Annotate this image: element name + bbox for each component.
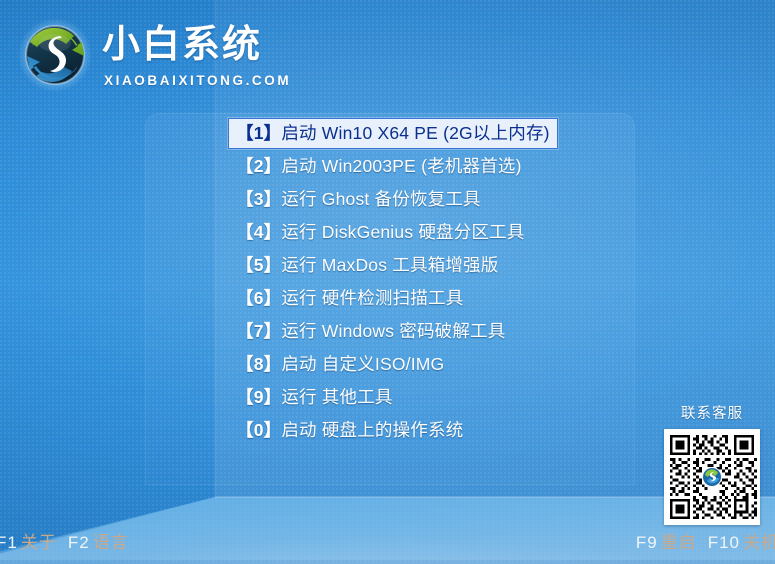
menu-item-9-key: 【9】 — [236, 387, 281, 407]
menu-item-6-key: 【6】 — [236, 288, 281, 308]
menu-item-8[interactable]: 【8】启动 自定义ISO/IMG — [228, 349, 452, 380]
hotkey-f9-key[interactable]: F9 — [636, 533, 658, 552]
boot-menu-list[interactable]: 【1】启动 Win10 X64 PE (2G以上内存) 【2】启动 Win200… — [228, 118, 628, 448]
brand-name-cn: 小白系统 — [102, 26, 262, 64]
menu-row: 【8】启动 自定义ISO/IMG — [228, 349, 628, 382]
menu-row: 【5】运行 MaxDos 工具箱增强版 — [228, 250, 628, 283]
menu-item-2-key: 【2】 — [236, 156, 281, 176]
menu-row: 【2】启动 Win2003PE (老机器首选) — [228, 151, 628, 184]
boot-menu-screen: 小白系统 XIAOBAIXITONG.COM 【1】启动 Win10 X64 P… — [0, 0, 775, 564]
menu-item-5-key: 【5】 — [236, 255, 281, 275]
menu-item-4-label: 运行 DiskGenius 硬盘分区工具 — [281, 222, 524, 242]
menu-item-0-label: 启动 硬盘上的操作系统 — [281, 420, 463, 440]
menu-item-9[interactable]: 【9】运行 其他工具 — [228, 382, 401, 413]
menu-item-2-label: 启动 Win2003PE (老机器首选) — [281, 156, 521, 176]
hotkey-f1-key[interactable]: F1 — [0, 533, 18, 552]
menu-item-3[interactable]: 【3】运行 Ghost 备份恢复工具 — [228, 184, 489, 215]
hotkey-hints-left: F1关于F2语言 — [0, 532, 129, 554]
hotkey-f1-label[interactable]: 关于 — [21, 533, 57, 552]
menu-item-7-key: 【7】 — [236, 321, 281, 341]
menu-item-5-label: 运行 MaxDos 工具箱增强版 — [281, 255, 498, 275]
menu-item-1[interactable]: 【1】启动 Win10 X64 PE (2G以上内存) — [228, 118, 558, 149]
menu-row: 【6】运行 硬件检测扫描工具 — [228, 283, 628, 316]
menu-item-7-label: 运行 Windows 密码破解工具 — [281, 321, 505, 341]
brand-logo: 小白系统 XIAOBAIXITONG.COM — [14, 8, 264, 100]
menu-item-3-label: 运行 Ghost 备份恢复工具 — [281, 189, 480, 209]
hotkey-f10-key[interactable]: F10 — [708, 533, 740, 552]
menu-item-0[interactable]: 【0】启动 硬盘上的操作系统 — [228, 415, 471, 446]
menu-item-3-key: 【3】 — [236, 189, 281, 209]
hotkey-hints-right: F9重启F10关机 — [636, 532, 775, 554]
menu-item-1-label: 启动 Win10 X64 PE (2G以上内存) — [281, 123, 549, 143]
menu-item-6-label: 运行 硬件检测扫描工具 — [281, 288, 463, 308]
hotkey-f2-key[interactable]: F2 — [68, 533, 90, 552]
menu-item-9-label: 运行 其他工具 — [281, 387, 392, 407]
menu-item-8-label: 启动 自定义ISO/IMG — [281, 354, 444, 374]
globe-recycle-logo-icon — [16, 16, 94, 94]
menu-item-1-key: 【1】 — [236, 123, 281, 143]
menu-row: 【0】启动 硬盘上的操作系统 — [228, 415, 628, 448]
hotkey-f2-label[interactable]: 语言 — [93, 533, 129, 552]
contact-support: 联系客服 — [660, 402, 764, 525]
menu-item-5[interactable]: 【5】运行 MaxDos 工具箱增强版 — [228, 250, 506, 281]
hotkey-f10-label[interactable]: 关机 — [743, 533, 775, 552]
menu-item-4-key: 【4】 — [236, 222, 281, 242]
menu-item-2[interactable]: 【2】启动 Win2003PE (老机器首选) — [228, 151, 530, 182]
brand-name-en: XIAOBAIXITONG.COM — [104, 74, 291, 88]
menu-item-8-key: 【8】 — [236, 354, 281, 374]
qr-code-icon[interactable] — [664, 429, 760, 525]
menu-item-7[interactable]: 【7】运行 Windows 密码破解工具 — [228, 316, 513, 347]
menu-item-6[interactable]: 【6】运行 硬件检测扫描工具 — [228, 283, 471, 314]
menu-row: 【1】启动 Win10 X64 PE (2G以上内存) — [228, 118, 628, 151]
contact-support-title: 联系客服 — [660, 402, 764, 423]
menu-item-0-key: 【0】 — [236, 420, 281, 440]
menu-item-4[interactable]: 【4】运行 DiskGenius 硬盘分区工具 — [228, 217, 533, 248]
menu-row: 【9】运行 其他工具 — [228, 382, 628, 415]
hotkey-f9-label[interactable]: 重启 — [661, 533, 697, 552]
menu-row: 【3】运行 Ghost 备份恢复工具 — [228, 184, 628, 217]
menu-row: 【4】运行 DiskGenius 硬盘分区工具 — [228, 217, 628, 250]
menu-row: 【7】运行 Windows 密码破解工具 — [228, 316, 628, 349]
brand-logo-icon — [702, 467, 722, 487]
